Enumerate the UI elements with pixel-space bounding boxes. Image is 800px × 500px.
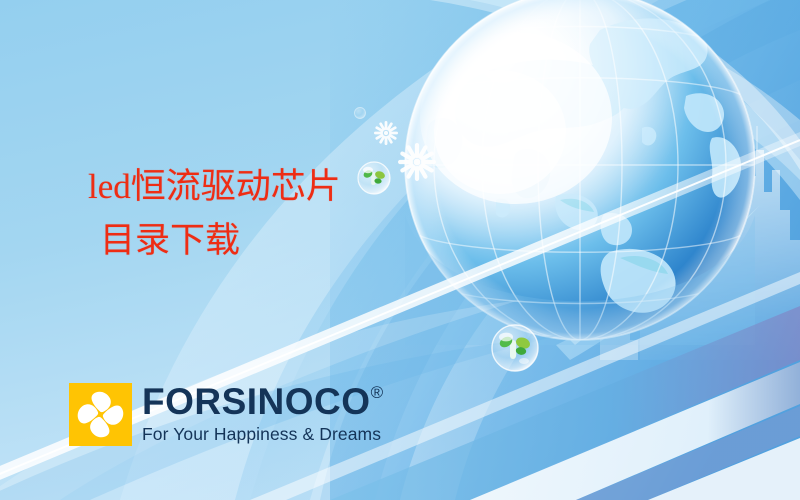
- micro-bubble: [355, 108, 366, 119]
- promo-banner: led恒流驱动芯片 目录下载 FORSINOCO ® For Your Happ…: [0, 0, 800, 500]
- brand-text-block: FORSINOCO ® For Your Happiness & Dreams: [142, 383, 383, 445]
- eco-bubble-upper: [358, 162, 390, 194]
- brand-logo-lockup: FORSINOCO ® For Your Happiness & Dreams: [69, 383, 383, 446]
- brand-name-row: FORSINOCO ®: [142, 383, 383, 421]
- forsinoco-pinwheel-flower-mark: [69, 383, 132, 446]
- registered-trademark-icon: ®: [371, 384, 384, 402]
- brand-tagline: For Your Happiness & Dreams: [142, 423, 383, 445]
- brand-name: FORSINOCO: [142, 383, 371, 421]
- eco-bubble-lower: [492, 325, 538, 371]
